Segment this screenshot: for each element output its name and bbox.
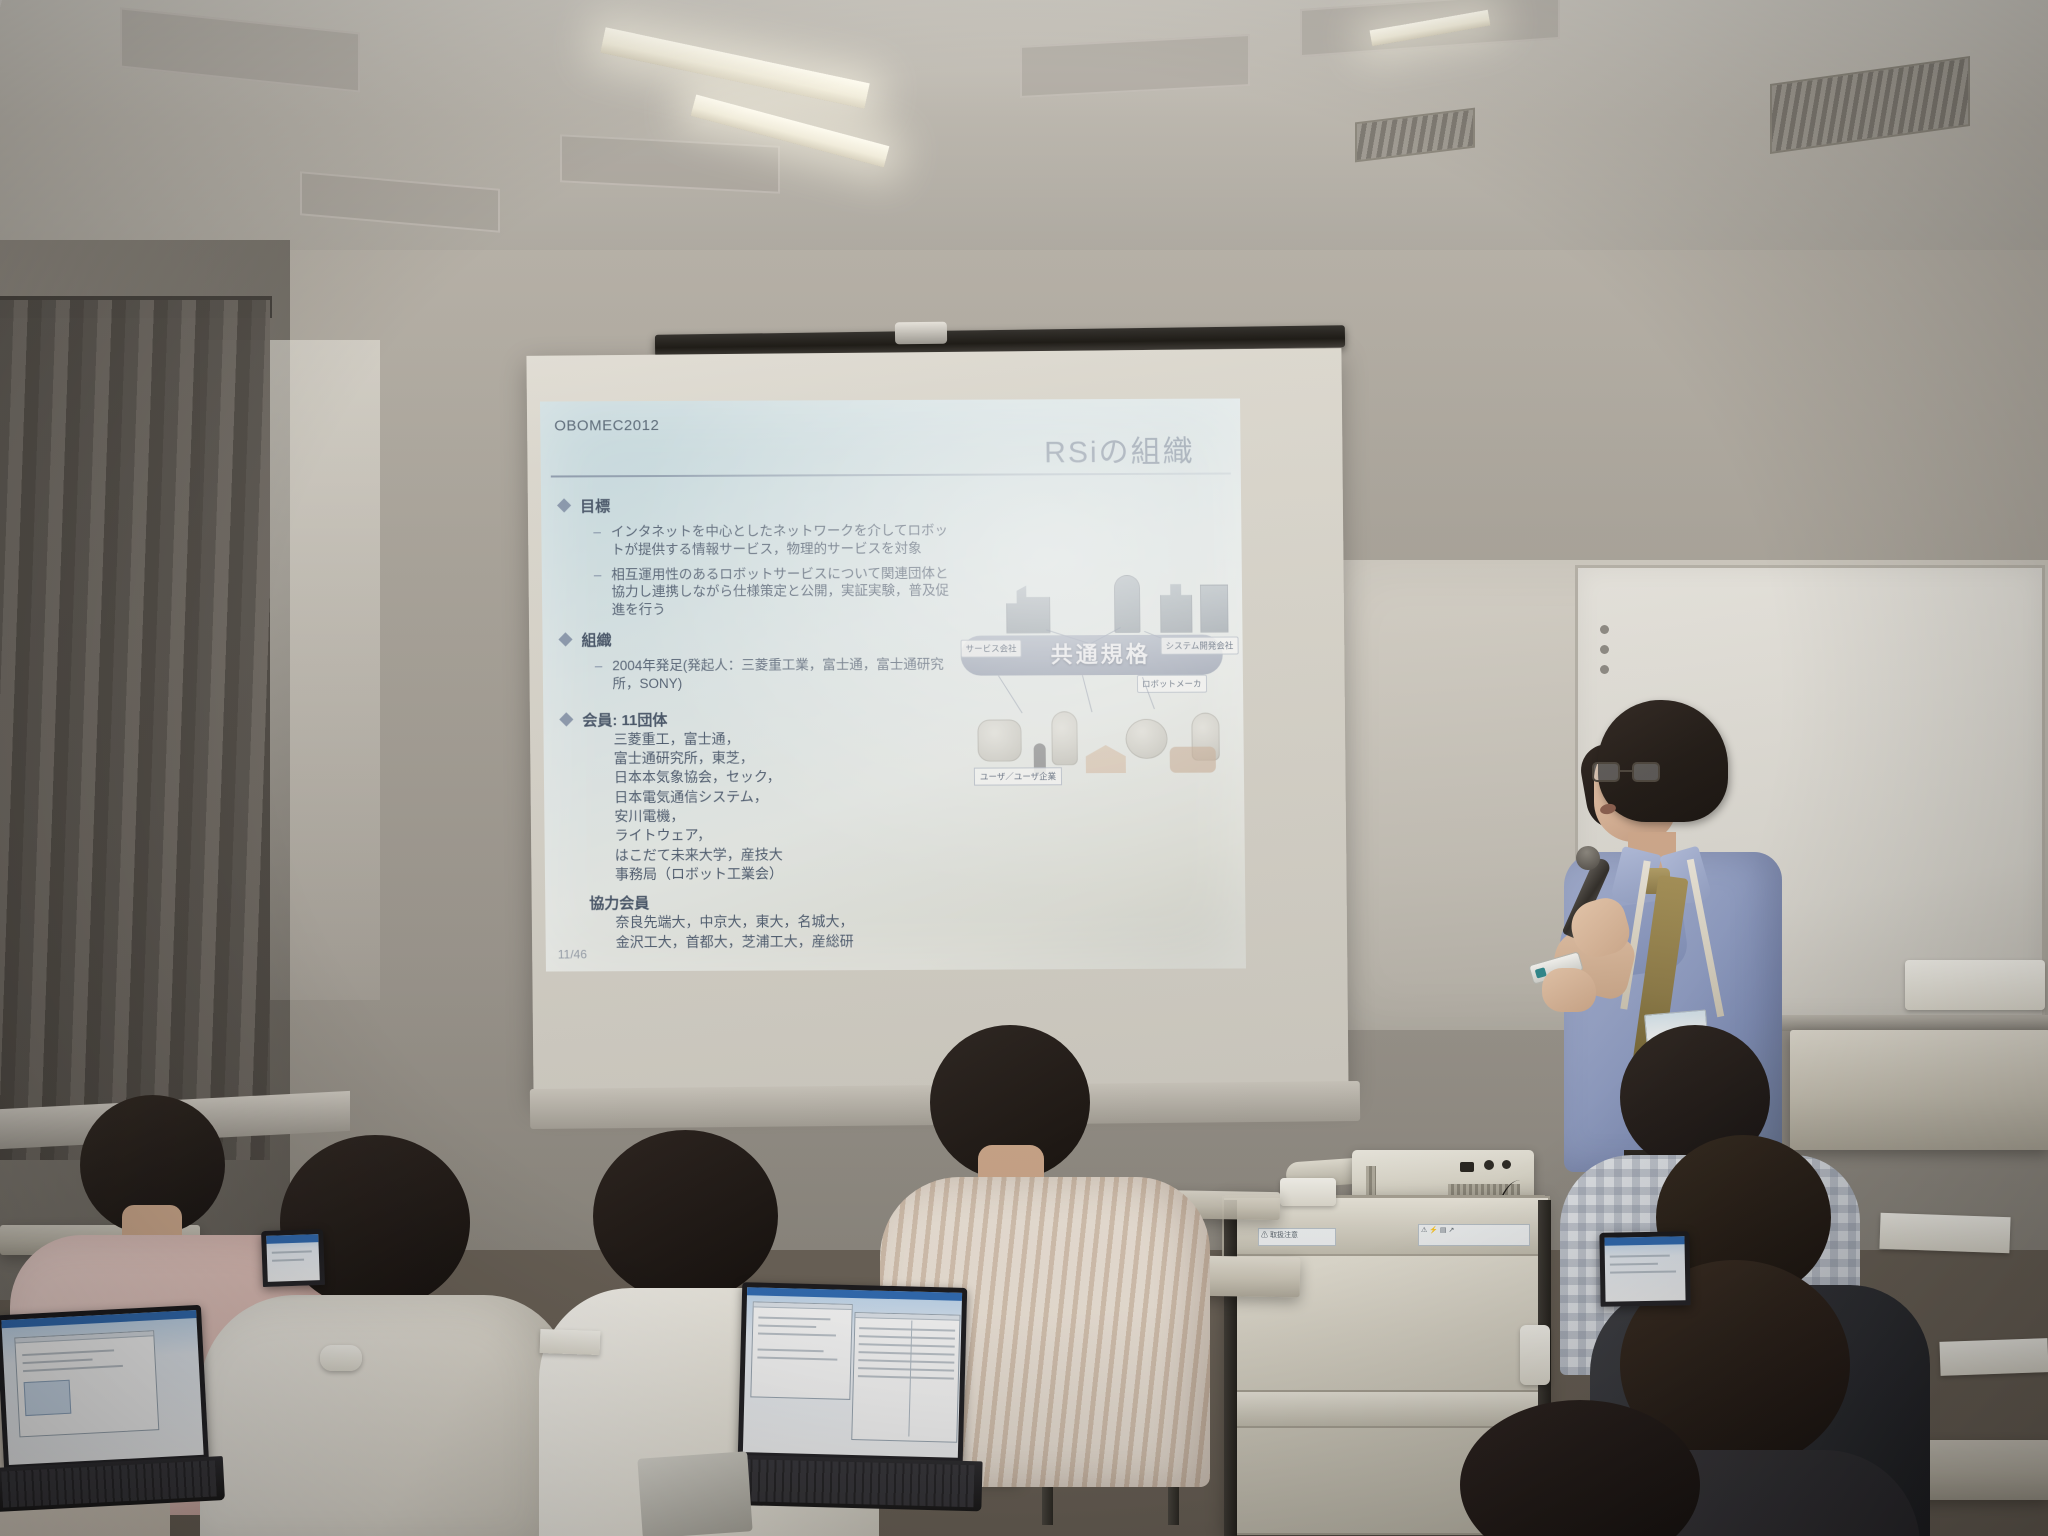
dash-bullet-icon: – <box>595 657 603 693</box>
laptop[interactable] <box>261 1229 325 1287</box>
member-line: 日本本気象協会，セック， <box>614 767 962 788</box>
tag-system-developer: システム開発会社 <box>1161 636 1239 654</box>
audience-member <box>210 1135 560 1536</box>
text-line <box>272 1250 312 1253</box>
projector-port <box>1460 1162 1474 1172</box>
dash-bullet-icon: – <box>593 523 601 559</box>
closed-laptop[interactable] <box>637 1451 752 1536</box>
table-row <box>859 1335 955 1339</box>
humanoid-robot-icon <box>1051 711 1078 765</box>
member-line: 事務局（ロボット工業会） <box>615 864 963 885</box>
whiteboard-magnet <box>1600 625 1609 634</box>
slide-bullet-goal: 目標 <box>559 494 959 517</box>
text-line <box>757 1357 837 1361</box>
laptop-keyboard-base[interactable] <box>719 1455 982 1512</box>
diamond-bullet-icon <box>558 632 572 646</box>
member-line: はこだて未来大学，産技大 <box>615 844 963 865</box>
text-line <box>23 1358 93 1363</box>
slide-bullet-label: 会員: 11団体 <box>582 709 667 730</box>
window-titlebar <box>15 1331 153 1343</box>
text-line <box>22 1349 114 1355</box>
family-icon <box>1170 747 1216 773</box>
member-line: 安川電機， <box>614 806 962 827</box>
laptop[interactable] <box>1599 1231 1690 1307</box>
audience-head <box>1460 1400 1700 1536</box>
projector-knob <box>1484 1160 1494 1170</box>
table-row <box>859 1351 955 1355</box>
projected-slide: OBOMEC2012 RSiの組織 目標 – インタネットを中心としたネットワー… <box>540 398 1246 971</box>
text-line <box>272 1259 304 1262</box>
laptop-display[interactable] <box>1604 1236 1685 1301</box>
slide-bullet-label: 目標 <box>580 495 610 516</box>
screen-pull-knob <box>895 322 947 345</box>
slide-diagram: 共通規格 サービス会社 システム開発会社 ロボットメーカ ユーザ／ユーザ企業 <box>954 567 1238 788</box>
whiteboard-magnet <box>1600 645 1609 654</box>
audience-member <box>1440 1400 1740 1536</box>
associate-member-line: 奈良先端大，中京大，東大，名城大， <box>615 912 963 933</box>
slide-subbullet-text: 2004年発足(発起人：三菱重工業，富士通，富士通研究所，SONY) <box>612 656 961 693</box>
factory-icon <box>1200 585 1229 633</box>
glasses-icon <box>1592 762 1662 784</box>
cart-warning-label: ⚠ 取扱注意 <box>1258 1228 1336 1246</box>
text-line <box>1610 1263 1658 1265</box>
glasses-lens <box>1592 762 1620 782</box>
table-row <box>859 1343 955 1347</box>
table-row <box>858 1359 954 1363</box>
diagram-connector <box>998 676 1023 714</box>
slide-subbullet-text: 相互運用性のあるロボットサービスについて関連団体と協力し連携しながら仕様策定と公… <box>611 564 960 619</box>
notebook <box>540 1329 601 1355</box>
keyboard[interactable] <box>727 1459 974 1507</box>
cart-instruction-label: ⚠ ⚡ ▤ ↗ <box>1418 1224 1530 1246</box>
slide-header-text: OBOMEC2012 <box>554 417 659 434</box>
laptop[interactable] <box>0 1305 209 1471</box>
slide-subbullet-text: インタネットを中心としたネットワークを介してロボットが提供する情報サービス，物理… <box>611 522 960 559</box>
window-titlebar <box>1604 1236 1684 1245</box>
text-line <box>1610 1255 1670 1258</box>
water-bottle <box>1520 1325 1550 1385</box>
projector-knob <box>1502 1160 1511 1169</box>
member-line: 日本電気通信システム， <box>614 786 962 807</box>
document-window[interactable] <box>750 1301 852 1400</box>
laptop-display[interactable] <box>1 1310 203 1465</box>
window-titlebar <box>855 1313 959 1321</box>
slide-subbullet: – 2004年発足(発起人：三菱重工業，富士通，富士通研究所，SONY) <box>595 656 961 693</box>
associate-member-line: 金沢工大，首都大，芝浦工大，産総研 <box>616 931 964 952</box>
wireless-access-point <box>1280 1178 1336 1206</box>
diamond-bullet-icon <box>557 498 571 512</box>
spreadsheet-window[interactable] <box>851 1312 960 1443</box>
member-line: 三菱重工，富士通， <box>613 728 961 749</box>
dash-bullet-icon: – <box>594 566 602 619</box>
slide-bullet-organization: 組織 <box>560 628 960 651</box>
house-icon <box>1086 745 1126 773</box>
glasses-bridge <box>1620 770 1632 772</box>
tag-service-company: サービス会社 <box>961 639 1022 657</box>
slide-bullet-members: 会員: 11団体 <box>561 707 961 730</box>
slide-bullet-associate-members: 協力会員 <box>589 891 963 914</box>
handout-paper <box>1939 1338 2048 1376</box>
window-titlebar <box>1 1310 196 1328</box>
slide-title: RSiの組織 <box>1044 427 1195 472</box>
text-line <box>758 1333 836 1337</box>
laptop-display[interactable] <box>266 1234 320 1282</box>
slide-bullet-label: 組織 <box>581 629 611 650</box>
audience-torso <box>200 1295 570 1536</box>
window-titlebar <box>754 1302 852 1310</box>
text-line <box>758 1325 816 1328</box>
common-standard-label: 共通規格 <box>1021 637 1181 670</box>
whiteboard-magnet <box>1600 665 1609 674</box>
user-enterprise-label: ユーザ／ユーザ企業 <box>974 767 1062 785</box>
window-titlebar <box>266 1234 318 1244</box>
av-cart-post <box>1224 1200 1237 1536</box>
slide-page-number: 11/46 <box>558 947 587 961</box>
presenter-hand-holding-remote <box>1542 968 1596 1012</box>
laptop-white <box>1905 960 2045 1010</box>
window-titlebar <box>747 1287 962 1301</box>
laptop[interactable] <box>738 1282 968 1463</box>
robot-icon <box>977 719 1021 761</box>
table-row <box>859 1327 955 1331</box>
slide-subbullet: – インタネットを中心としたネットワークを介してロボットが提供する情報サービス，… <box>593 522 959 559</box>
text-line <box>758 1349 824 1352</box>
diamond-bullet-icon <box>559 712 573 726</box>
laptop-display[interactable] <box>743 1287 962 1458</box>
window-curtain <box>0 300 270 1160</box>
table-row <box>858 1367 954 1371</box>
text-line <box>1610 1270 1676 1273</box>
pet-robot-icon <box>1125 719 1167 759</box>
audience-head <box>593 1130 778 1302</box>
robot-maker-factory-icon <box>1160 579 1193 633</box>
app-window[interactable] <box>14 1330 159 1437</box>
chart-thumbnail <box>24 1380 72 1416</box>
system-developer-building-icon <box>1114 575 1141 633</box>
member-line: 富士通研究所，東芝， <box>614 748 962 769</box>
mouse[interactable] <box>320 1345 362 1371</box>
glasses-lens <box>1632 762 1660 782</box>
diagram-connector <box>1082 675 1093 712</box>
presenter-hair <box>1598 700 1728 822</box>
keyboard[interactable] <box>1 1460 217 1507</box>
presentation-room-scene: OBOMEC2012 RSiの組織 目標 – インタネットを中心としたネットワー… <box>0 0 2048 1536</box>
service-company-building-icon <box>1006 581 1051 633</box>
table-row <box>858 1375 954 1379</box>
slide-title-divider <box>551 473 1231 477</box>
text-line <box>758 1317 830 1320</box>
member-line: ライトウェア， <box>614 825 962 846</box>
slide-subbullet: – 相互運用性のあるロボットサービスについて関連団体と協力し連携しながら仕様策定… <box>594 564 961 619</box>
slide-body: 目標 – インタネットを中心としたネットワークを介してロボットが提供する情報サー… <box>559 484 964 953</box>
text-line <box>23 1365 123 1372</box>
